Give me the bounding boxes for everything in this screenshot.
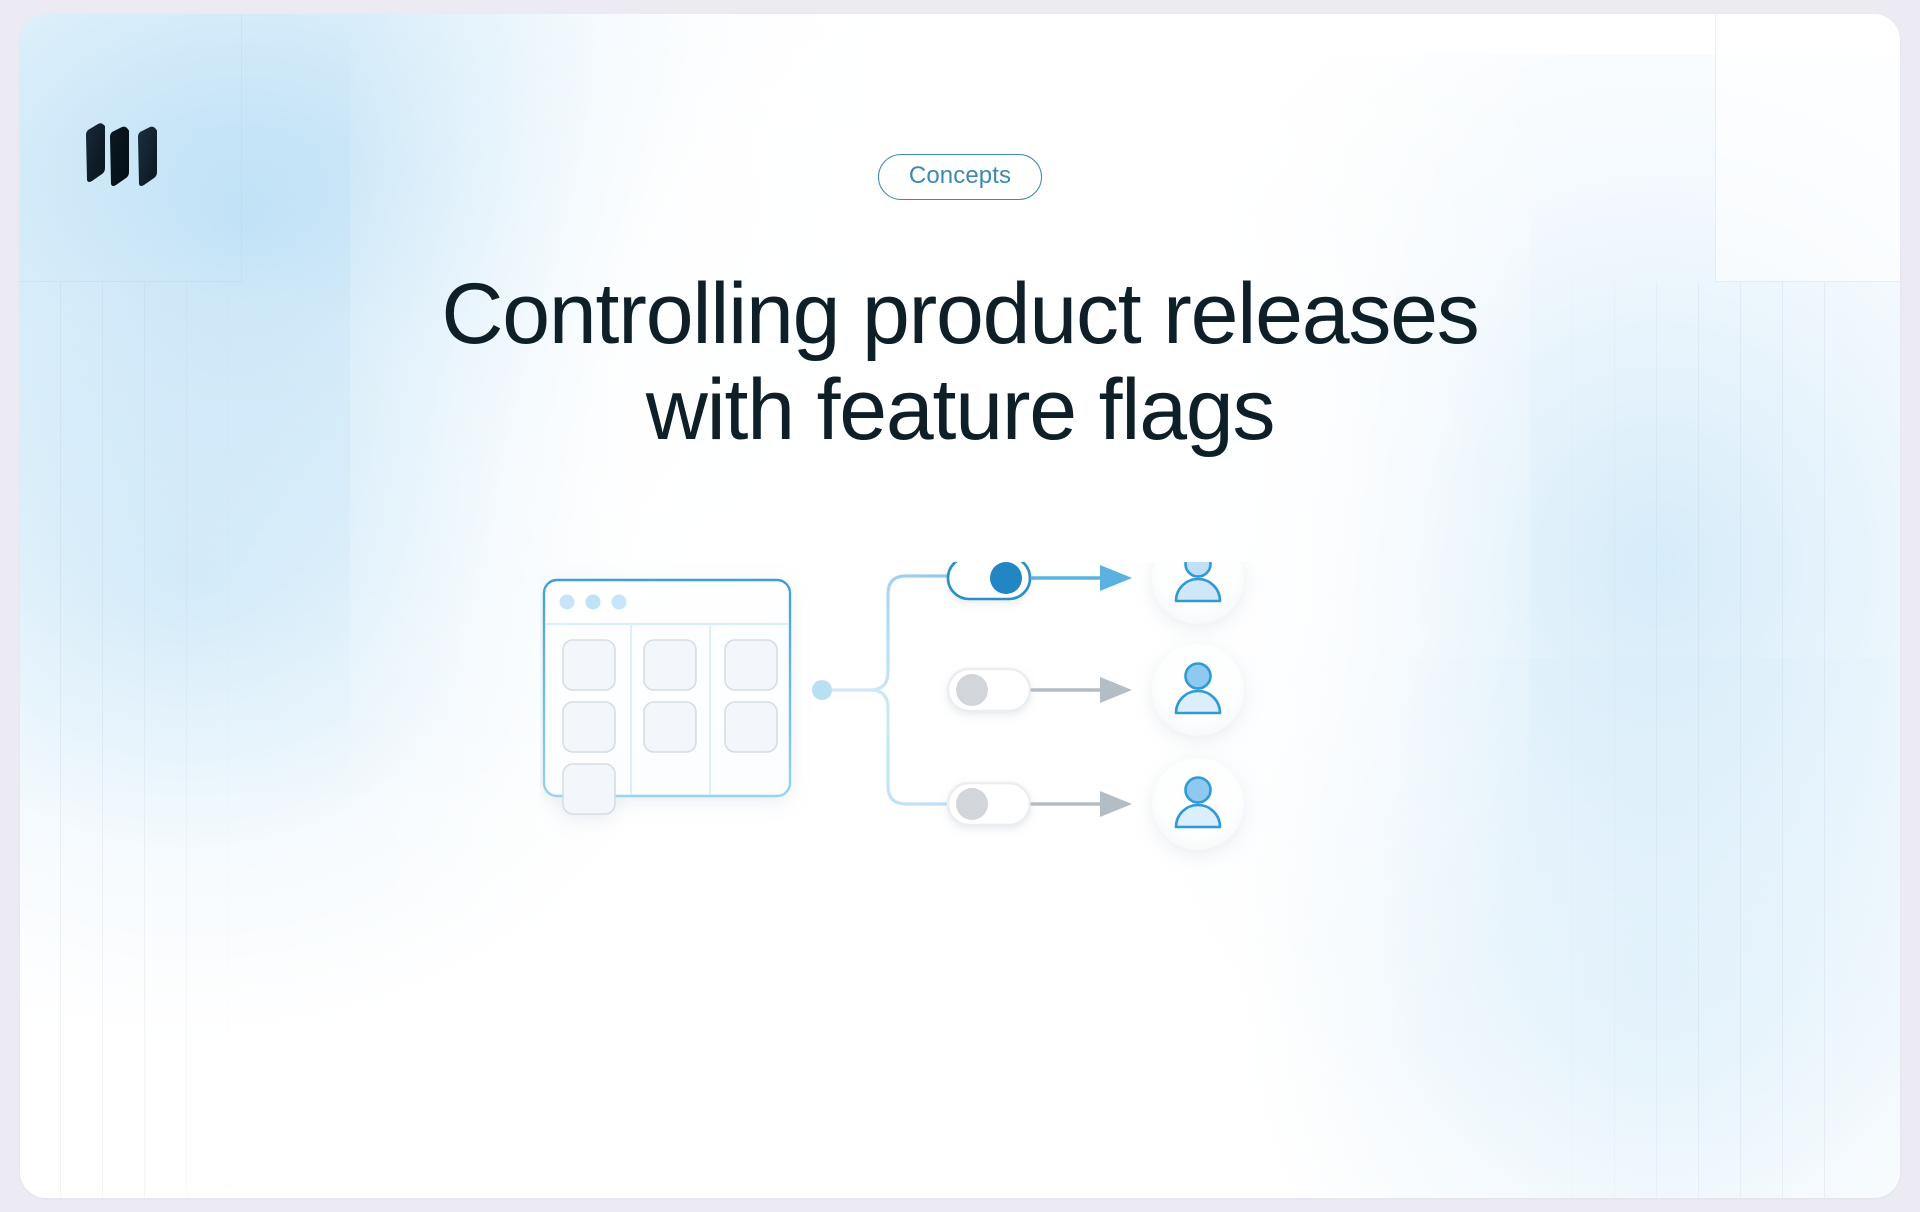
branch-disabled-1 bbox=[948, 644, 1244, 736]
feature-toggle-off-2[interactable] bbox=[948, 783, 1030, 825]
connector-group bbox=[823, 576, 950, 804]
toggle-knob bbox=[990, 562, 1022, 594]
window-card bbox=[644, 702, 696, 752]
branch-origin-dot bbox=[812, 680, 832, 700]
feature-flag-rollout-diagram bbox=[540, 562, 1360, 962]
user-avatar-1 bbox=[1152, 562, 1244, 624]
window-dot-3 bbox=[612, 595, 627, 610]
feature-toggle-on[interactable] bbox=[948, 562, 1030, 599]
window-card bbox=[644, 640, 696, 690]
window-dot-2 bbox=[586, 595, 601, 610]
feature-toggle-off-1[interactable] bbox=[948, 669, 1030, 711]
page-title: Controlling product releases with featur… bbox=[20, 266, 1900, 459]
window-column-1 bbox=[563, 640, 615, 814]
window-dot-1 bbox=[560, 595, 575, 610]
branch-enabled bbox=[948, 562, 1244, 624]
hero-card: Concepts Controlling product releases wi… bbox=[20, 14, 1900, 1198]
arrow-disabled-2 bbox=[1032, 791, 1132, 817]
branch-disabled-2 bbox=[948, 758, 1244, 850]
arrow-enabled bbox=[1032, 565, 1132, 591]
window-card bbox=[563, 702, 615, 752]
window-card bbox=[563, 764, 615, 814]
toggle-knob bbox=[956, 674, 988, 706]
toggle-knob bbox=[956, 788, 988, 820]
badge-container: Concepts bbox=[20, 154, 1900, 200]
app-window-mockup bbox=[544, 580, 790, 814]
page-title-line-2: with feature flags bbox=[280, 362, 1640, 458]
window-card bbox=[725, 702, 777, 752]
user-avatar-2 bbox=[1152, 644, 1244, 736]
arrow-disabled-1 bbox=[1032, 677, 1132, 703]
window-card bbox=[563, 640, 615, 690]
window-card bbox=[725, 640, 777, 690]
connector-branch-down bbox=[870, 690, 950, 804]
category-badge[interactable]: Concepts bbox=[878, 154, 1042, 200]
page-title-line-1: Controlling product releases bbox=[280, 266, 1640, 362]
user-avatar-3 bbox=[1152, 758, 1244, 850]
panel-edge-right bbox=[1715, 14, 1900, 282]
connector-branch-up bbox=[870, 576, 950, 690]
